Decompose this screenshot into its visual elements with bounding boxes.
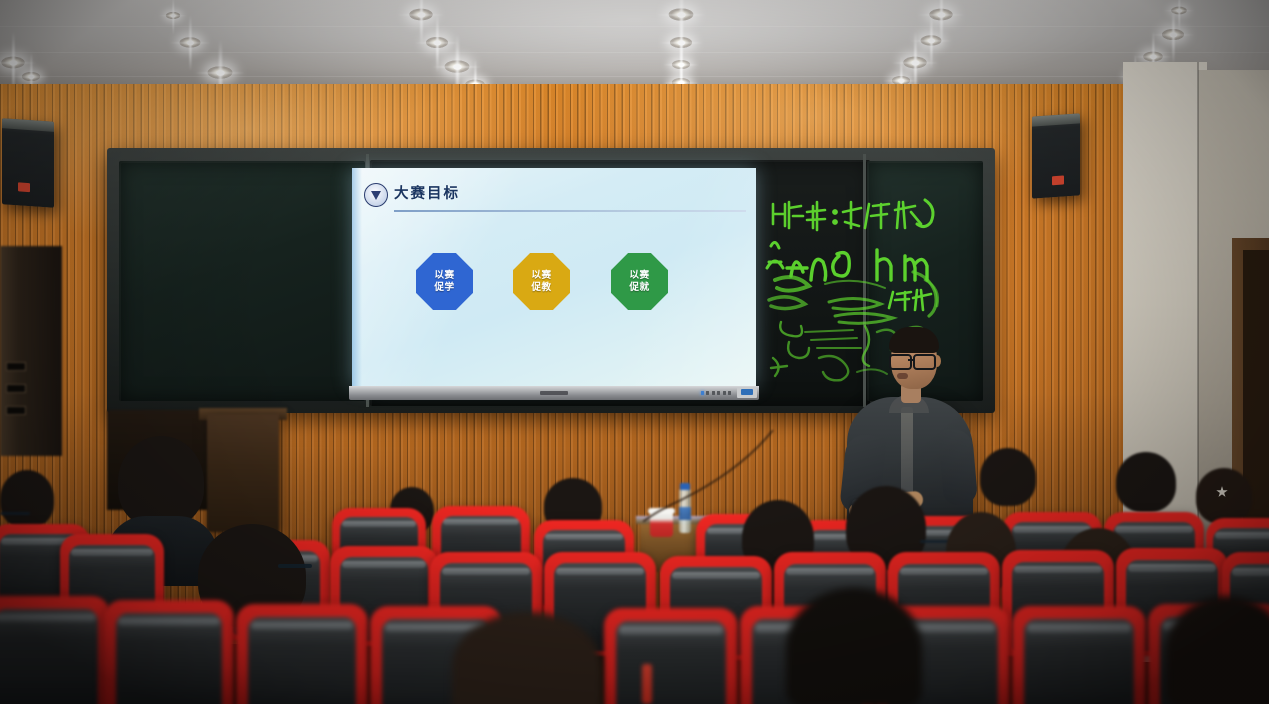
octagon-label-line1: 以赛 (531, 270, 551, 281)
display-control-buttons[interactable] (701, 391, 732, 395)
ceiling-light (903, 57, 926, 69)
octagon-label-line2: 促学 (434, 282, 454, 293)
slide-goal-octagon: 以赛 促就 (611, 253, 668, 310)
octagon-label-line2: 促就 (629, 282, 649, 293)
audience-head (980, 448, 1036, 506)
slide-title-divider (394, 210, 746, 212)
display-badge (737, 387, 757, 398)
display-bezel (349, 386, 759, 400)
slide-title: 大赛目标 (394, 182, 460, 203)
octagon-label-line1: 以赛 (434, 270, 454, 281)
ceiling-light (445, 60, 470, 72)
octagon-label-line1: 以赛 (629, 270, 649, 281)
slide-goal-group: 以赛 促学 以赛 促教 以赛 促就 (352, 253, 756, 373)
ceiling-light (208, 66, 233, 78)
power-indicator (701, 391, 704, 395)
auditorium-seat[interactable] (104, 600, 234, 704)
ceiling-light (426, 37, 448, 48)
ceiling-light (921, 35, 942, 45)
lecture-hall-scene: 大赛目标 以赛 促学 以赛 促教 以赛 促就 (0, 0, 1269, 704)
presenter-glasses (889, 354, 935, 366)
auditorium-seat[interactable] (0, 596, 110, 704)
wall-speaker-right (1032, 113, 1080, 198)
octagon-label-line2: 促教 (531, 282, 551, 293)
ceiling-light (22, 72, 40, 81)
ceiling-light (1, 57, 24, 69)
audience-glasses (278, 564, 312, 568)
podium (207, 414, 279, 532)
presenter-mouth (897, 373, 908, 379)
presenter-hair (889, 327, 939, 353)
school-emblem-icon (364, 183, 388, 207)
audience-glasses (0, 512, 30, 515)
audience-head (118, 436, 204, 528)
blackboard-panel-left (119, 161, 365, 401)
equipment-rack (0, 246, 62, 456)
audience-head (1196, 468, 1252, 524)
auditorium-seat[interactable] (236, 604, 368, 704)
interactive-display-screen[interactable]: 大赛目标 以赛 促学 以赛 促教 以赛 促就 (352, 168, 756, 386)
audience-head (786, 588, 922, 704)
auditorium-seat[interactable] (604, 608, 738, 704)
auditorium-seat[interactable] (1012, 606, 1146, 704)
slide-goal-octagon: 以赛 促学 (416, 253, 473, 310)
presenter-jacket-opening (901, 407, 913, 503)
ceiling-light (929, 9, 952, 21)
audience-head (0, 470, 54, 528)
ceiling-light (166, 12, 180, 19)
audience-head (1116, 452, 1176, 512)
wall-speaker-left (2, 118, 54, 208)
display-brand-mark (540, 391, 568, 395)
lanyard-strap (642, 664, 652, 704)
slide-goal-octagon: 以赛 促教 (513, 253, 570, 310)
ceiling-light (180, 37, 201, 47)
ceiling-light (1162, 29, 1184, 40)
ceiling-light (1143, 52, 1163, 62)
ceiling-light (409, 9, 432, 21)
